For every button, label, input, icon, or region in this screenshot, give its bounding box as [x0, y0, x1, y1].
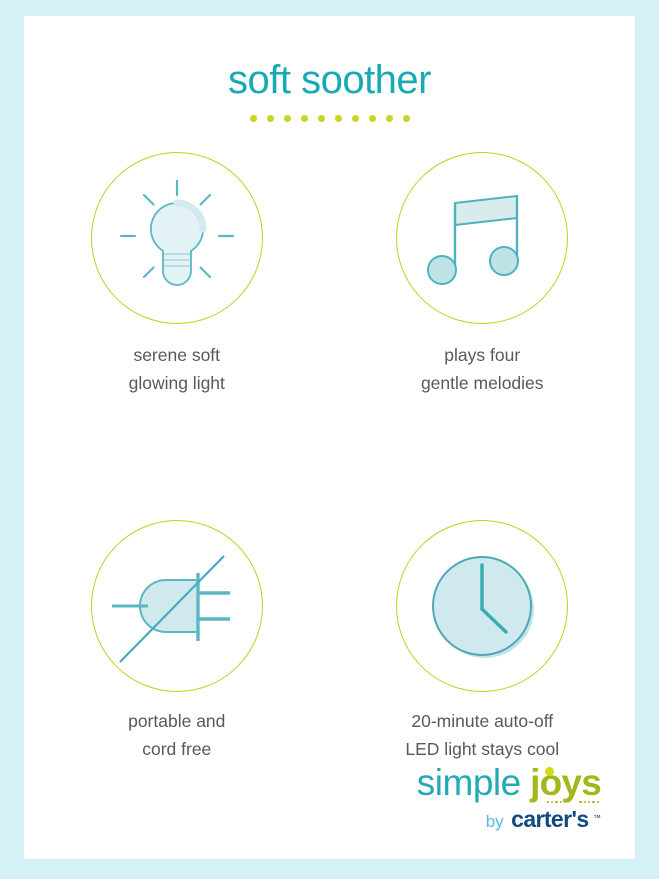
decorative-dot: [284, 115, 291, 122]
feature-icon-ring: [396, 520, 568, 692]
feature-caption: portable and cord free: [128, 708, 225, 763]
lightbulb-rays-icon: [102, 163, 252, 313]
feature-item-auto-off: 20-minute auto-off LED light stays cool: [330, 520, 636, 763]
logo-underline-dot-group: [579, 801, 599, 803]
decorative-dot: [318, 115, 325, 122]
feature-item-melodies: plays four gentle melodies: [330, 152, 636, 397]
decorative-dot: [301, 115, 308, 122]
decorative-dot: [386, 115, 393, 122]
logo-word-carters: carter's: [511, 806, 588, 832]
plug-no-cord-icon: [102, 531, 252, 681]
decorative-dot: [369, 115, 376, 122]
feature-caption: 20-minute auto-off LED light stays cool: [405, 708, 559, 763]
feature-row: portable and cord free 20-minute auto-of…: [24, 520, 635, 763]
poster-card: soft soother: [24, 16, 635, 859]
feature-item-glowing-light: serene soft glowing light: [24, 152, 330, 397]
feature-icon-ring: [91, 152, 263, 324]
logo-underline-dot-group: [547, 801, 567, 803]
decorative-dot-row: [24, 115, 635, 122]
feature-caption: serene soft glowing light: [129, 342, 225, 397]
decorative-dot: [335, 115, 342, 122]
brand-logo: simple joys by carter's ™: [411, 761, 601, 833]
trademark-icon: ™: [593, 814, 601, 823]
logo-primary-line: simple joys: [411, 761, 601, 805]
decorative-dot: [352, 115, 359, 122]
logo-joys-dot-icon: [545, 767, 554, 776]
page-title: soft soother: [24, 58, 635, 103]
logo-underline-dots: [547, 801, 599, 803]
decorative-dot: [250, 115, 257, 122]
logo-word-simple: simple: [417, 762, 521, 803]
logo-word-by: by: [486, 812, 504, 831]
feature-item-cord-free: portable and cord free: [24, 520, 330, 763]
feature-grid: serene soft glowing light plays four gen…: [24, 152, 635, 764]
beamed-eighth-notes-icon: [407, 163, 557, 313]
feature-icon-ring: [91, 520, 263, 692]
feature-caption: plays four gentle melodies: [421, 342, 544, 397]
poster-frame: soft soother: [0, 0, 659, 879]
decorative-dot: [403, 115, 410, 122]
logo-secondary-line: by carter's ™: [411, 806, 601, 833]
clock-icon: [407, 531, 557, 681]
feature-icon-ring: [396, 152, 568, 324]
logo-word-joys: joys: [530, 762, 601, 803]
decorative-dot: [267, 115, 274, 122]
feature-row: serene soft glowing light plays four gen…: [24, 152, 635, 397]
